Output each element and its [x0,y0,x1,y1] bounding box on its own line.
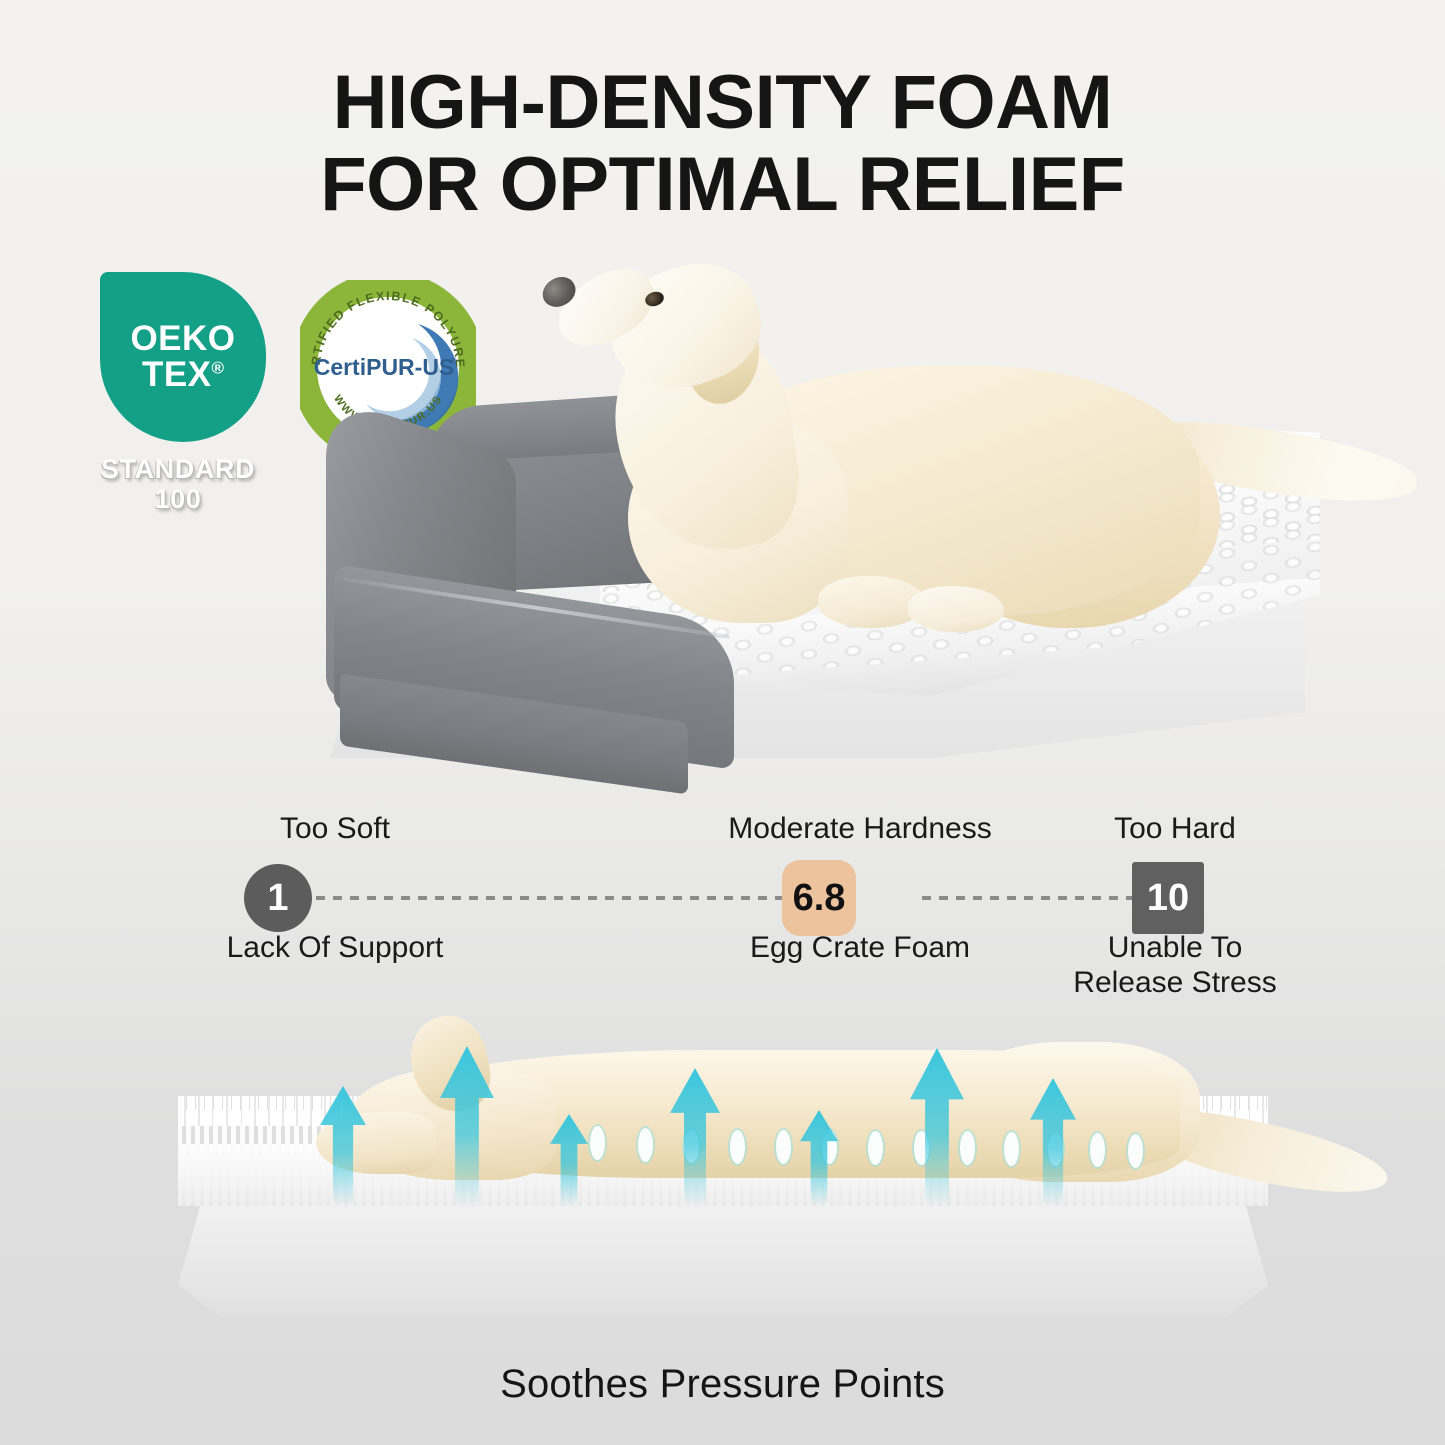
oeko-standard-line-2: 100 [73,484,283,514]
title-line-2: FOR OPTIMAL RELIEF [0,144,1445,226]
hardness-scale: Too Soft Moderate Hardness Too Hard 1 6.… [170,812,1290,1012]
scale-bottom-label-lack-of-support: Lack Of Support [165,930,505,965]
oeko-line-2: TEX [142,355,212,394]
scale-marker-10[interactable]: 10 [1132,862,1204,934]
bottom-caption: Soothes Pressure Points [0,1362,1445,1407]
scale-bottom-label-egg-crate-foam: Egg Crate Foam [690,930,1030,965]
scale-marker-1[interactable]: 1 [244,864,312,932]
page-title: HIGH-DENSITY FOAM FOR OPTIMAL RELIEF [0,62,1445,226]
scale-marker-68[interactable]: 6.8 [782,860,856,936]
pressure-arrow [800,1110,838,1206]
pressure-relief-illustration [150,1000,1300,1330]
oeko-standard-line-1: STANDARD [73,454,283,484]
pressure-arrow [670,1068,720,1206]
pressure-arrow [1030,1078,1076,1206]
pressure-arrows [150,1000,1300,1330]
pressure-arrow [440,1046,494,1206]
dog-rear-paw [908,586,1004,632]
oeko-registered-mark: ® [212,358,225,377]
oeko-tex-badge: OEKO TEX® [100,272,266,442]
title-line-1: HIGH-DENSITY FOAM [333,60,1113,145]
pressure-arrow [550,1114,588,1206]
scale-top-label-too-soft: Too Soft [195,812,475,846]
scale-top-label-moderate: Moderate Hardness [690,812,1030,846]
oeko-line-1: OEKO [130,321,235,357]
labrador-dog-lying [500,248,1300,678]
oeko-standard-label: STANDARD 100 [73,454,283,514]
scale-track [282,896,1204,900]
scale-bottom-label-unable-to-release-stress: Unable To Release Stress [1060,930,1290,1001]
product-photo-dog-on-bed [300,248,1320,808]
infographic-stage: HIGH-DENSITY FOAM FOR OPTIMAL RELIEF OEK… [0,0,1445,1445]
scale-bottom-label-3-line-2: Release Stress [1060,965,1290,1000]
pressure-arrow [320,1086,366,1206]
scale-top-label-too-hard: Too Hard [1060,812,1290,846]
scale-dashed-line-left [282,896,838,900]
oeko-line-2-wrap: TEX® [142,357,224,393]
scale-bottom-label-3-line-1: Unable To [1060,930,1290,965]
oeko-badge-text: OEKO TEX® [100,272,266,442]
pressure-arrow [910,1048,964,1206]
